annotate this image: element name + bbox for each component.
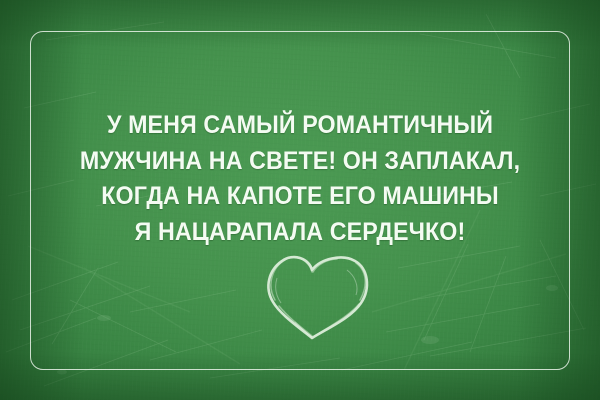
caption-line-3: КОГДА НА КАПОТЕ ЕГО МАШИНЫ xyxy=(21,179,579,215)
caption-line-4: Я НАЦАРАПАЛА СЕРДЕЧКО! xyxy=(21,215,579,251)
caption-line-2: МУЖЧИНА НА СВЕТЕ! ОН ЗАПЛАКАЛ, xyxy=(21,144,579,180)
caption-text: У МЕНЯ САМЫЙ РОМАНТИЧНЫЙ МУЖЧИНА НА СВЕТ… xyxy=(21,108,579,250)
chalkboard-card: У МЕНЯ САМЫЙ РОМАНТИЧНЫЙ МУЖЧИНА НА СВЕТ… xyxy=(0,0,600,400)
caption-line-1: У МЕНЯ САМЫЙ РОМАНТИЧНЫЙ xyxy=(21,108,579,144)
